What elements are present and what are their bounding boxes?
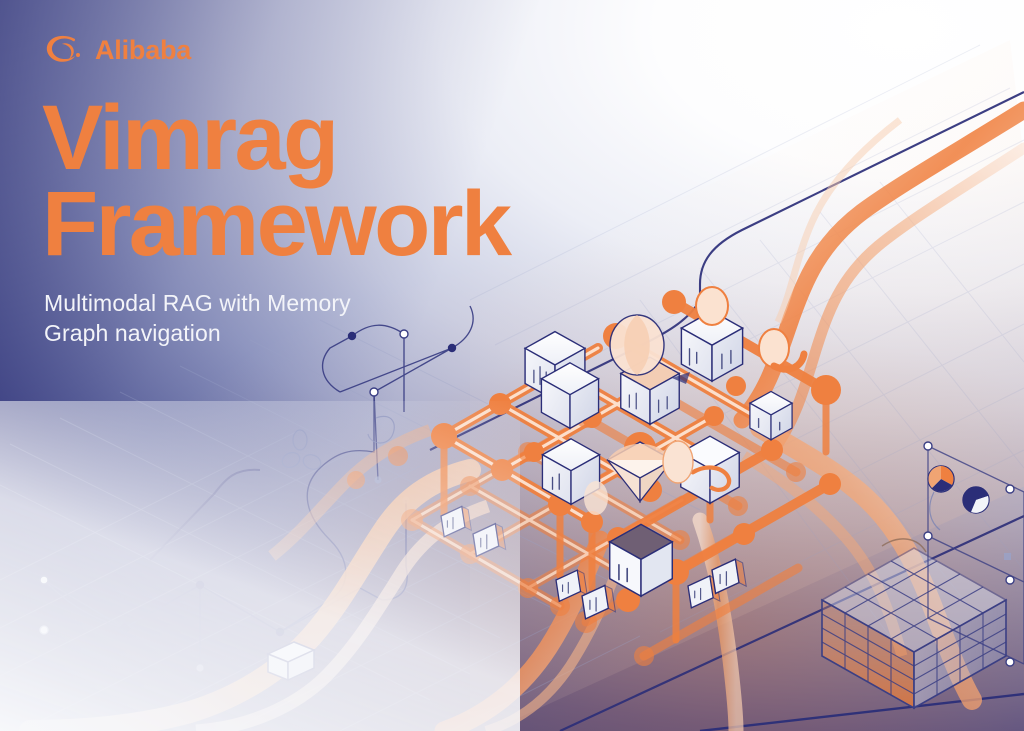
background-bottom-fade (0, 401, 520, 731)
title-line-2: Framework (42, 182, 682, 268)
title-line-1: Vimrag (42, 96, 682, 182)
alibaba-swoosh-icon (44, 33, 86, 67)
page-title: Vimrag Framework (42, 96, 682, 267)
subtitle-line-2: Graph navigation (44, 318, 464, 348)
subtitle-line-1: Multimodal RAG with Memory (44, 288, 464, 318)
hero-banner: Alibaba Vimrag Framework Multimodal RAG … (0, 0, 1024, 731)
brand-name: Alibaba (95, 37, 191, 64)
page-subtitle: Multimodal RAG with Memory Graph navigat… (44, 288, 464, 349)
brand-logo[interactable]: Alibaba (44, 33, 191, 67)
